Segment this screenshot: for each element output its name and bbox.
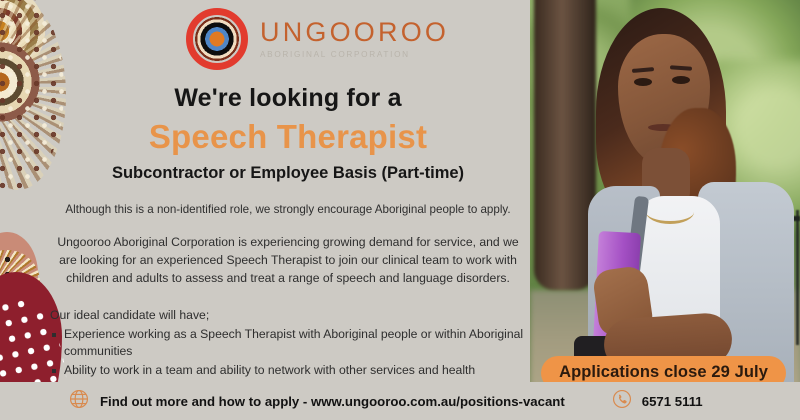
dot-art-dark-dots: [0, 252, 26, 342]
role-description: Ungooroo Aboriginal Corporation is exper…: [42, 233, 534, 287]
list-item: Experience working as a Speech Therapist…: [64, 326, 534, 361]
headline-intro: We're looking for a: [42, 84, 534, 113]
brand-name: UNGOOROO: [260, 19, 449, 46]
job-title: Speech Therapist: [42, 118, 534, 156]
brand-logo: UNGOOROO ABORIGINAL CORPORATION: [186, 8, 449, 70]
advertisement-content: We're looking for a Speech Therapist Sub…: [42, 84, 534, 420]
globe-icon: [68, 388, 90, 415]
encouragement-note: Although this is a non-identified role, …: [42, 202, 534, 219]
photo-eye-right: [672, 76, 690, 84]
phone-icon: [611, 388, 633, 415]
dot-art-peach-shape: [0, 232, 38, 316]
footer-bar: Find out more and how to apply - www.ung…: [0, 382, 800, 420]
employment-basis: Subcontractor or Employee Basis (Part-ti…: [42, 164, 534, 183]
brand-tagline: ABORIGINAL CORPORATION: [260, 51, 449, 59]
dot-art-circle-top: [0, 0, 64, 96]
photo-tree-trunk: [534, 0, 596, 290]
apply-info: Find out more and how to apply - www.ung…: [68, 388, 703, 415]
job-advertisement-poster: UNGOOROO ABORIGINAL CORPORATION We're lo…: [0, 0, 800, 420]
phone-info: 6571 5111: [611, 388, 703, 415]
photo-eye-left: [634, 78, 652, 86]
requirements-intro: Our ideal candidate will have;: [42, 308, 534, 322]
apply-link-text[interactable]: Find out more and how to apply - www.ung…: [100, 394, 565, 409]
brand-logo-text: UNGOOROO ABORIGINAL CORPORATION: [260, 19, 449, 59]
dot-art-fan: [0, 250, 40, 314]
ungooroo-circles-icon: [186, 8, 248, 70]
photo-necklace: [646, 200, 694, 224]
phone-number[interactable]: 6571 5111: [642, 394, 703, 409]
